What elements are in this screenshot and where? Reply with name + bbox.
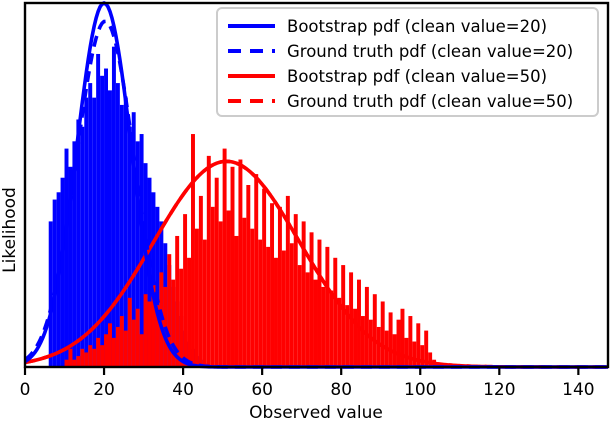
histogram-bar [80, 349, 84, 367]
histogram-bar [321, 287, 325, 367]
histogram-bar [215, 178, 219, 367]
y-axis-title: Likelihood [0, 187, 20, 273]
x-axis-tick-label: 120 [483, 380, 515, 400]
histogram-bar [298, 265, 302, 367]
histogram-bar [428, 352, 432, 367]
histogram-bar [76, 356, 80, 367]
histogram-bar [219, 221, 223, 367]
histogram-bar [306, 272, 310, 367]
histogram-bar [231, 167, 235, 367]
histogram-bar [187, 258, 191, 367]
histogram-bar [65, 149, 69, 367]
histogram-bar [274, 258, 278, 367]
histogram-bar [310, 232, 314, 367]
histogram-bar [317, 240, 321, 367]
plot-svg: 020406080100120140 Observed value Likeli… [0, 0, 612, 424]
histogram-bar [254, 174, 258, 367]
histogram-bar [120, 316, 124, 367]
histogram-bar [203, 240, 207, 367]
histogram-bar [369, 320, 373, 367]
histogram-bar [148, 301, 152, 367]
histogram-bar [262, 189, 266, 367]
histogram-bar [116, 327, 120, 367]
legend-label: Bootstrap pdf (clean value=50) [287, 67, 547, 86]
histogram-bar [140, 334, 144, 367]
histogram-bar [124, 331, 128, 367]
histogram-bar [234, 236, 238, 367]
histogram-bar [397, 320, 401, 367]
x-axis-tick-label: 100 [404, 380, 436, 400]
histogram-bar [61, 178, 65, 367]
histogram-bar [80, 127, 84, 367]
chart-legend: Bootstrap pdf (clean value=20)Ground tru… [217, 8, 598, 116]
histogram-bar [128, 298, 132, 367]
histogram-bar [104, 334, 108, 367]
histogram-bar [278, 207, 282, 367]
histogram-bar [191, 134, 195, 367]
histogram-bar [84, 352, 88, 367]
histogram-bar [404, 338, 408, 367]
x-axis-tick-label: 0 [20, 380, 31, 400]
histogram-bar [353, 309, 357, 367]
histogram-bar [84, 98, 88, 367]
histogram-bar [270, 203, 274, 367]
histogram-bar [88, 345, 92, 367]
histogram-bar [250, 229, 254, 367]
histogram-bar [140, 134, 144, 367]
histogram-bar [242, 218, 246, 367]
histogram-bar [400, 309, 404, 367]
histogram-bar [100, 76, 104, 367]
histogram-bar [266, 247, 270, 367]
x-axis-tick-label: 60 [251, 380, 273, 400]
histogram-bar [282, 251, 286, 367]
x-axis-tick-label: 140 [562, 380, 594, 400]
histogram-bar [381, 301, 385, 367]
histogram-bar [100, 345, 104, 367]
histogram-bar [227, 210, 231, 367]
histogram-bar [112, 47, 116, 367]
histogram-bar [183, 214, 187, 367]
histogram-bar [377, 327, 381, 367]
histogram-bar [333, 258, 337, 367]
histogram-bar [195, 229, 199, 367]
histogram-bar [420, 345, 424, 367]
legend-label: Bootstrap pdf (clean value=20) [287, 17, 547, 36]
x-axis-tick-label: 20 [93, 380, 115, 400]
histogram-bar [92, 349, 96, 367]
histogram-bar [68, 349, 72, 367]
histogram-bar [104, 69, 108, 367]
histogram-bar [246, 185, 250, 367]
histogram-bar [325, 247, 329, 367]
histogram-bar [412, 342, 416, 367]
histogram-bar [49, 221, 53, 367]
histogram-bar [365, 287, 369, 367]
legend-label: Ground truth pdf (clean value=20) [287, 42, 573, 61]
histogram-bar [96, 338, 100, 367]
histogram-bar [211, 207, 215, 367]
x-axis-tick-label: 80 [330, 380, 352, 400]
histogram-bar [179, 269, 183, 367]
histogram-bar [132, 320, 136, 367]
x-axis-title: Observed value [249, 403, 383, 423]
histogram-bar [124, 98, 128, 367]
histogram-bar [361, 316, 365, 367]
x-axis-ticks: 020406080100120140 [20, 367, 595, 400]
histogram-bar [238, 160, 242, 367]
histogram-bar [389, 312, 393, 367]
histogram-bar [116, 83, 120, 367]
histogram-bar [341, 265, 345, 367]
histogram-bar [258, 240, 262, 367]
histogram-bar [207, 156, 211, 367]
chart-figure: 020406080100120140 Observed value Likeli… [0, 0, 612, 424]
legend-label: Ground truth pdf (clean value=50) [287, 92, 573, 111]
histogram-bar [144, 294, 148, 367]
histogram-bar [290, 243, 294, 367]
histogram-bar [373, 294, 377, 367]
histogram-bar [314, 280, 318, 367]
histogram-bar [108, 323, 112, 367]
x-axis-tick-label: 40 [172, 380, 194, 400]
histogram-bar [88, 83, 92, 367]
histogram-bar [112, 338, 116, 367]
histogram-bar [223, 149, 227, 367]
histogram-bar [136, 309, 140, 367]
histogram-bar [329, 291, 333, 367]
histogram-bar [199, 196, 203, 367]
